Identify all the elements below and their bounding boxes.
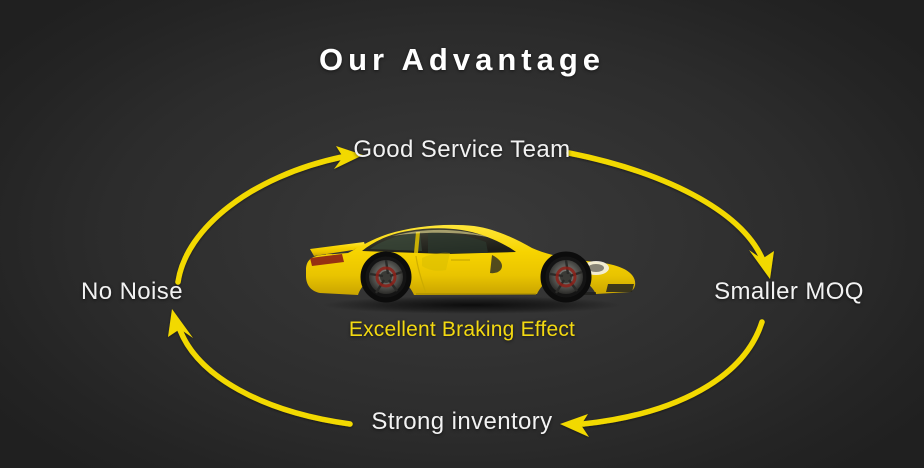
car-rear-wheel bbox=[362, 253, 410, 301]
cycle-node-no-noise[interactable]: No Noise bbox=[18, 278, 246, 306]
page-title: Our Advantage bbox=[0, 42, 924, 78]
cycle-node-strong-inventory[interactable]: Strong inventory bbox=[0, 408, 924, 436]
cycle-node-smaller-moq[interactable]: Smaller MOQ bbox=[670, 278, 908, 306]
cycle-node-good-service-team[interactable]: Good Service Team bbox=[0, 136, 924, 164]
product-caption: Excellent Braking Effect bbox=[0, 318, 924, 342]
car-front-wheel bbox=[542, 253, 590, 301]
product-car-image bbox=[296, 196, 644, 316]
arrowhead-down-right bbox=[749, 250, 774, 279]
advantage-infographic: Our Advantage bbox=[0, 0, 924, 468]
